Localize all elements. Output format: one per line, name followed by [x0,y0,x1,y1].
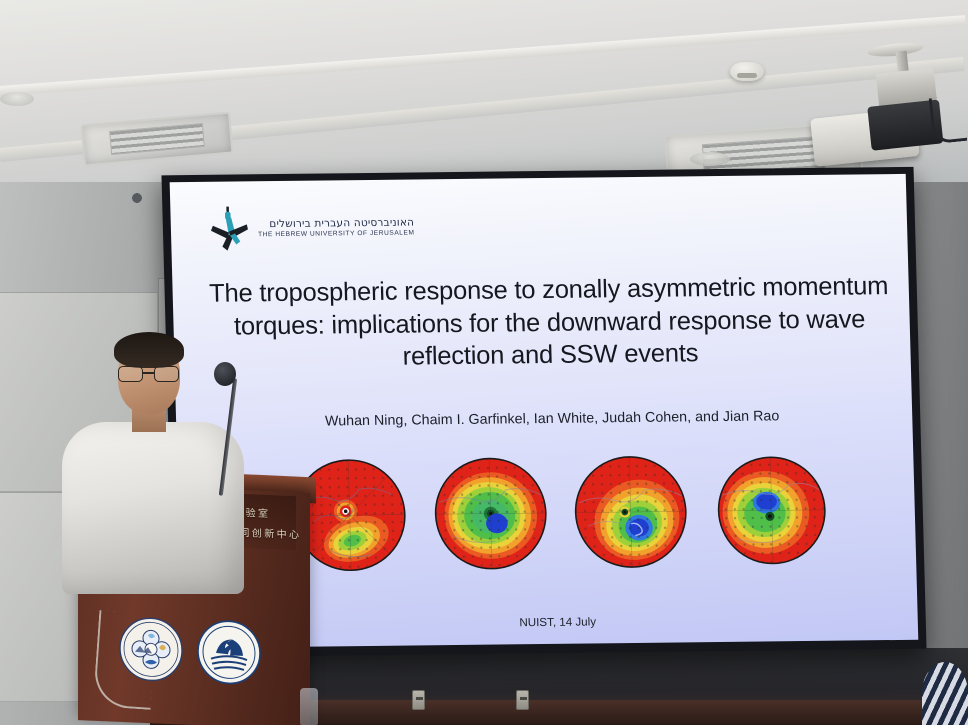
lens-right [154,366,179,382]
vent-grille [109,123,204,155]
logo-hebrew-text: האוניברסיטה העברית בירושלים [258,216,415,230]
nuist-wave-emblem [196,618,262,687]
microphone-icon[interactable] [214,362,236,386]
polar-plot-panel-2 [430,454,551,573]
university-logo-mark [208,205,249,251]
presenter-hair [114,332,184,368]
logo-english-text: THE HEBREW UNIVERSITY OF JERUSALEM [258,229,415,238]
hebrew-university-logo: האוניברסיטה העברית בירושלים THE HEBREW U… [208,203,415,251]
power-cable [93,610,158,710]
wall-outlet[interactable] [412,690,425,710]
slide-footer: NUIST, 14 July [205,612,909,633]
ceiling-speaker [0,92,34,106]
polar-plot-panel-4 [711,451,832,570]
water-bottle [300,688,318,725]
slide-title: The tropospheric response to zonally asy… [196,270,903,376]
logo-text-block: האוניברסיטה העברית בירושלים THE HEBREW U… [258,216,415,238]
slide-authors: Wuhan Ning, Chaim I. Garfinkel, Ian Whit… [200,407,904,431]
audience-member [922,662,968,725]
ceiling-speaker [690,152,730,166]
presenter-torso [62,422,244,594]
polar-plot-panel-3 [570,452,691,571]
eyeglasses-icon [116,366,182,383]
glasses-bridge [143,372,154,374]
shirt-graphic [128,190,146,206]
lens-left [118,366,143,382]
conference-room-photo: האוניברסיטה העברית בירושלים THE HEBREW U… [0,0,968,725]
polar-panel-row [289,451,832,575]
wall-outlet[interactable] [516,690,529,710]
smoke-detector-icon [730,62,764,81]
